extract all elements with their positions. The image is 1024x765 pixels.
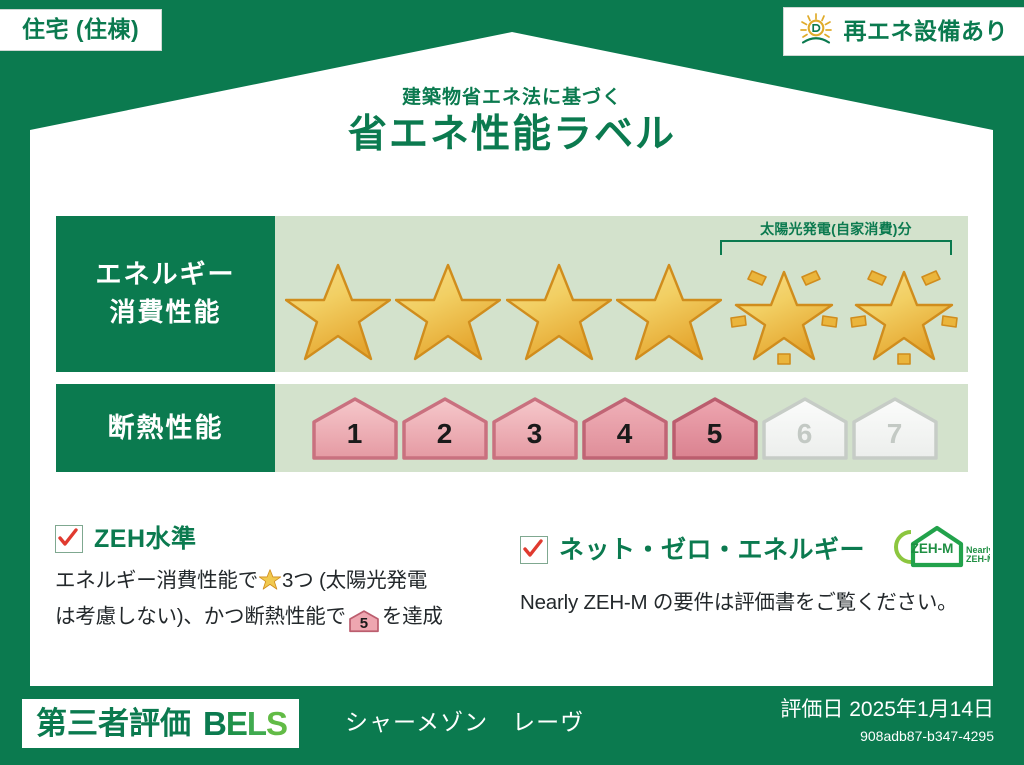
energy-label-line2: 消費性能	[109, 294, 221, 332]
grade-house: 3	[491, 394, 579, 462]
energy-performance-row: エネルギー 消費性能 太陽光発電(自家消費)分	[56, 216, 968, 372]
bels-letter-l: L	[247, 705, 266, 742]
grade-house: 1	[311, 394, 399, 462]
renewable-equipment-badge: 再エネ設備あり	[783, 7, 1024, 56]
grade-house: 4	[581, 394, 669, 462]
star-slot-solar	[844, 256, 964, 368]
evaluation-info: 評価日 2025年1月14日 908adb87-b347-4295	[780, 699, 994, 743]
star-sparkle-icon	[844, 256, 964, 368]
page-title: 建築物省エネ法に基づく 省エネ性能ラベル	[0, 88, 1024, 156]
star-slot	[614, 262, 724, 363]
grade-number: 6	[797, 420, 813, 462]
star-slot-solar	[724, 256, 844, 368]
grade-number: 3	[527, 420, 543, 462]
svg-text:ZEH-M: ZEH-M	[966, 554, 990, 564]
solar-portion-label: 太陽光発電(自家消費)分	[720, 222, 952, 236]
grade-number: 7	[887, 420, 903, 462]
insulation-grade-scale: 1 2 3	[275, 384, 968, 472]
grade-house: 2	[401, 394, 489, 462]
grade-badge-inline: 5	[349, 609, 379, 633]
energy-label-line1: エネルギー	[95, 256, 235, 294]
insulation-row-body: 1 2 3	[275, 384, 968, 472]
star-icon	[616, 262, 722, 363]
bels-letter-b: B	[203, 705, 226, 742]
star-slot	[504, 262, 614, 363]
grade-house-inactive: 7	[851, 394, 939, 462]
solar-sun-icon	[798, 12, 834, 51]
zeh-standard-heading: ZEH水準	[55, 525, 505, 553]
solar-portion-marker: 太陽光発電(自家消費)分	[720, 222, 952, 255]
grade-number: 4	[617, 420, 633, 462]
star-icon	[395, 262, 501, 363]
net-zero-title: ネット・ゼロ・エネルギー	[559, 538, 865, 563]
grade-house-inactive: 6	[761, 394, 849, 462]
zeh-text-part2: は考慮しない)、かつ断熱性能で	[55, 605, 346, 628]
insulation-performance-row: 断熱性能 1 2	[56, 384, 968, 472]
label-canvas: 住宅 (住棟) 再エネ設備あり	[0, 0, 1024, 765]
grade-house: 5	[671, 394, 759, 462]
evaluation-date: 評価日 2025年1月14日	[780, 699, 994, 720]
zeh-text-part3: を達成	[382, 605, 443, 628]
energy-row-label: エネルギー 消費性能	[56, 216, 275, 372]
title-main: 省エネ性能ラベル	[0, 115, 1024, 156]
insulation-row-label: 断熱性能	[56, 384, 275, 472]
bels-letter-s: S	[266, 705, 287, 742]
bels-letter-e: E	[226, 705, 247, 742]
bels-jp-label: 第三者評価	[36, 708, 191, 739]
net-zero-description: Nearly ZEH-M の要件は評価書をご覧ください。	[520, 586, 980, 619]
building-name: シャーメゾン レーヴ	[345, 711, 584, 734]
insulation-label: 断熱性能	[108, 415, 224, 442]
footer-bar: 第三者評価 BELS シャーメゾン レーヴ 評価日 2025年1月14日 908…	[0, 686, 1024, 765]
zeh-star-count-text: 3つ (太陽光発電	[282, 569, 427, 592]
grade-number: 5	[707, 420, 723, 462]
svg-text:ZEH-M: ZEH-M	[911, 541, 954, 556]
zeh-standard-title: ZEH水準	[94, 527, 197, 552]
star-icon	[285, 262, 391, 363]
zeh-standard-description: エネルギー消費性能で3つ (太陽光発電 は考慮しない)、かつ断熱性能で5を達成	[55, 564, 505, 633]
dwelling-type-tag: 住宅 (住棟)	[0, 9, 162, 51]
dwelling-type-label: 住宅 (住棟)	[22, 16, 139, 42]
renewable-badge-label: 再エネ設備あり	[844, 20, 1009, 43]
grade-number: 1	[347, 420, 363, 462]
star-slot	[283, 262, 393, 363]
bels-logo: 第三者評価 BELS	[22, 699, 299, 748]
zeh-m-logo: ZEH-M Nearly ZEH-M	[885, 525, 990, 575]
star-slot	[393, 262, 503, 363]
zeh-standard-block: ZEH水準 エネルギー消費性能で3つ (太陽光発電 は考慮しない)、かつ断熱性能…	[55, 525, 505, 633]
checkbox-checked-icon	[520, 536, 548, 564]
star-icon-inline	[259, 572, 281, 595]
bels-en-label: BELS	[203, 707, 287, 740]
zeh-grade-badge: 5	[349, 609, 379, 636]
net-zero-heading: ネット・ゼロ・エネルギー ZEH-M Nearly ZEH-M	[520, 525, 980, 575]
solar-bracket	[720, 240, 952, 255]
evaluation-id: 908adb87-b347-4295	[780, 729, 994, 743]
energy-star-rating	[283, 256, 964, 368]
star-icon	[506, 262, 612, 363]
net-zero-energy-block: ネット・ゼロ・エネルギー ZEH-M Nearly ZEH-M Nearly Z…	[520, 525, 980, 619]
checkbox-checked-icon	[55, 525, 83, 553]
energy-row-body: 太陽光発電(自家消費)分	[275, 216, 968, 372]
title-subtitle: 建築物省エネ法に基づく	[0, 88, 1024, 109]
grade-number: 2	[437, 420, 453, 462]
star-sparkle-icon	[724, 256, 844, 368]
zeh-text-part1: エネルギー消費性能で	[55, 569, 258, 592]
